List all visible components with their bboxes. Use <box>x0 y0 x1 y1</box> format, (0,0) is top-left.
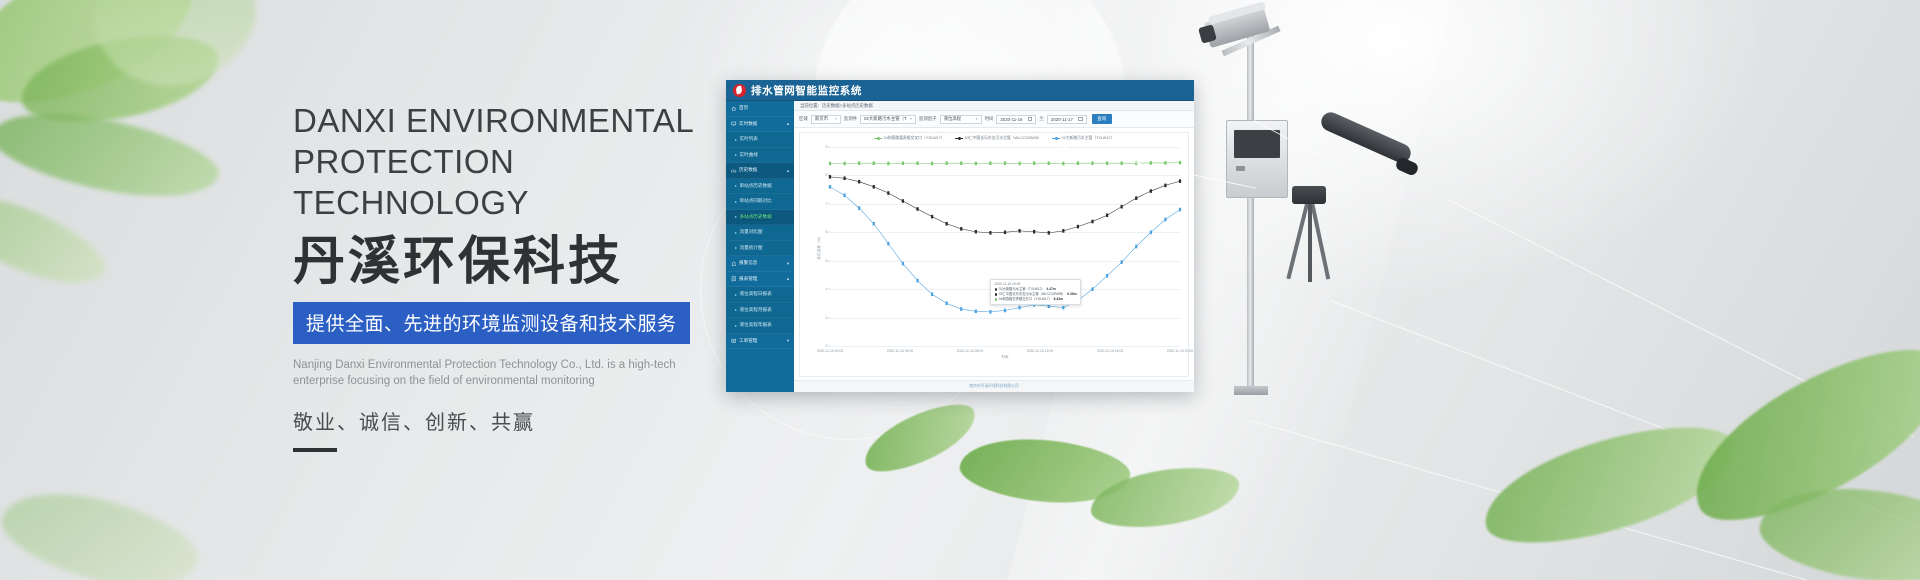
chevron-down-icon: ▾ <box>910 117 912 121</box>
series-0-point-2[interactable] <box>858 161 860 165</box>
series-1-point-1[interactable] <box>843 176 845 180</box>
series-1-point-23[interactable] <box>1164 184 1166 188</box>
series-2-point-24[interactable] <box>1179 208 1181 212</box>
series-1-point-4[interactable] <box>887 191 889 195</box>
chart-card: 04和燕路富贵顺交叉口（YGLW17）03仁中国长乐东支污水主管（WLCC02W… <box>799 132 1189 377</box>
legend-swatch <box>874 138 882 140</box>
sidebar-item-8[interactable]: ▸流量对比图 <box>726 225 794 241</box>
home-icon <box>731 106 737 112</box>
series-2-point-19[interactable] <box>1106 274 1108 278</box>
legend-item-1[interactable]: 03仁中国长乐东支污水主管（WLCC02W98） <box>955 136 1042 141</box>
hero-tagline-badge: 提供全面、先进的环境监测设备和技术服务 <box>293 302 690 344</box>
cabinet-display <box>1234 130 1280 158</box>
series-1-point-0[interactable] <box>829 175 831 179</box>
series-0-point-4[interactable] <box>887 162 889 166</box>
tooltip-series-name: 04和燕路富贵顺交叉口（YGLW17） <box>999 297 1052 302</box>
hero-english-title: DANXI ENVIRONMENTAL PROTECTION TECHNOLOG… <box>293 100 733 223</box>
series-2-point-18[interactable] <box>1091 287 1093 291</box>
sidebar-item-label: 实时曲线 <box>740 152 758 158</box>
chart-container: 04和燕路富贵顺交叉口（YGLW17）03仁中国长乐东支污水主管（WLCC02W… <box>794 128 1194 380</box>
date-separator: 至 <box>1039 116 1043 122</box>
series-1-point-20[interactable] <box>1121 205 1123 209</box>
station-value: 02大新路污水主管（TX） <box>864 116 907 122</box>
series-1-point-13[interactable] <box>1018 229 1020 233</box>
sensor-tripod <box>1308 200 1312 282</box>
series-2-point-1[interactable] <box>843 194 845 198</box>
query-button[interactable]: 查询 <box>1092 114 1112 124</box>
series-0-point-1[interactable] <box>843 162 845 166</box>
monitor-icon <box>731 121 737 127</box>
main-content: 当前位置：历史数据>多站点历史数据 区域 南京市 ▾ 监测件 02大新路污水主管… <box>794 101 1194 392</box>
series-2-point-22[interactable] <box>1150 231 1152 235</box>
series-1-point-2[interactable] <box>858 180 860 184</box>
calendar-icon <box>1028 117 1033 122</box>
sensor-head <box>1292 186 1326 204</box>
sidebar-item-5[interactable]: ▸单站点历史数据 <box>726 179 794 195</box>
bullet-arrow-icon: ▸ <box>735 230 737 235</box>
sidebar-item-6[interactable]: ▸单站点同期对比 <box>726 194 794 210</box>
chart-plot-area[interactable]: 液位高程（m） 时间 987654322020-11-16 00:002020-… <box>830 147 1180 346</box>
sidebar-item-2[interactable]: ▸实时列表 <box>726 132 794 148</box>
sidebar-group-label: 报表管理 <box>739 276 757 282</box>
bullet-arrow-icon: ▸ <box>735 245 737 250</box>
chevron-down-icon: ▼ <box>786 338 790 343</box>
series-2-point-23[interactable] <box>1164 218 1166 222</box>
series-0-point-13[interactable] <box>1018 162 1020 166</box>
series-1-point-10[interactable] <box>975 230 977 234</box>
app-header: 排水管网智能监控系统 <box>726 80 1194 101</box>
series-0-point-18[interactable] <box>1091 161 1093 165</box>
station-select[interactable]: 02大新路污水主管（TX） ▾ <box>860 115 916 124</box>
bell-icon <box>731 261 737 267</box>
sidebar-item-12[interactable]: ▸液位高程日报表 <box>726 287 794 303</box>
series-0-point-6[interactable] <box>916 161 918 165</box>
bullet-arrow-icon: ▸ <box>735 183 737 188</box>
x-axis-tick: 2020-11-16 16:00 <box>1097 349 1124 353</box>
legend-label: 04和燕路富贵顺交叉口（YGLW17） <box>884 136 945 141</box>
chart-icon <box>731 168 737 174</box>
sidebar-group-15[interactable]: 工单管理▼ <box>726 334 794 350</box>
hero-slogan: 敬业、诚信、创新、共赢 <box>293 406 733 435</box>
chevron-down-icon: ▾ <box>976 117 978 121</box>
sidebar-group-label: 实时数据 <box>739 121 757 127</box>
hero-chinese-title: 丹溪环保科技 <box>293 231 733 293</box>
bullet-arrow-icon: ▸ <box>735 137 737 142</box>
factor-value: 液位高程 <box>944 116 962 122</box>
bullet-arrow-icon: ▸ <box>735 292 737 297</box>
region-value: 南京市 <box>815 116 828 122</box>
camera-pole <box>1247 36 1254 386</box>
sidebar-item-label: 流量对比图 <box>740 229 763 235</box>
time-label: 时间 <box>985 116 994 122</box>
series-2-point-4[interactable] <box>887 242 889 246</box>
cabinet-indicator <box>1236 166 1245 171</box>
x-axis-tick: 2020-11-16 00:00 <box>817 349 844 353</box>
sidebar-item-label: 多站点历史数据 <box>740 214 772 220</box>
monitoring-app-window: 排水管网智能监控系统 首页实时数据▲▸实时列表▸实时曲线历史数据▲▸单站点历史数… <box>726 80 1194 392</box>
sidebar-group-11[interactable]: 报表管理▲ <box>726 272 794 288</box>
series-0-point-16[interactable] <box>1062 162 1064 166</box>
bullet-arrow-icon: ▸ <box>735 323 737 328</box>
sidebar-item-label: 单站点历史数据 <box>740 183 772 189</box>
tooltip-series-dot <box>995 298 997 300</box>
sidebar-group-10[interactable]: 报警信息▼ <box>726 256 794 272</box>
x-axis-tick: 2020-11-16 04:00 <box>887 349 914 353</box>
y-axis-tick: 5 <box>826 259 828 263</box>
series-2-point-11[interactable] <box>989 310 991 314</box>
series-0-point-23[interactable] <box>1164 161 1166 165</box>
series-0-point-0[interactable] <box>829 162 831 166</box>
series-2-point-13[interactable] <box>1018 306 1020 310</box>
monitoring-equipment-group <box>1200 0 1660 500</box>
date-from-value: 2020-11-16 <box>1000 117 1022 122</box>
bullet-arrow-icon: ▸ <box>735 307 737 312</box>
decorative-leaf <box>0 471 207 580</box>
series-2-point-10[interactable] <box>975 310 977 314</box>
tooltip-series-value: 6.38m <box>1067 292 1076 297</box>
y-axis-tick: 8 <box>826 173 828 177</box>
sidebar-item-7[interactable]: ▸多站点历史数据 <box>726 210 794 226</box>
sidebar-group-label: 首页 <box>739 105 748 111</box>
ticket-icon <box>731 338 737 344</box>
hero-text-block: DANXI ENVIRONMENTAL PROTECTION TECHNOLOG… <box>293 100 733 452</box>
region-select[interactable]: 南京市 ▾ <box>811 115 841 124</box>
app-body: 首页实时数据▲▸实时列表▸实时曲线历史数据▲▸单站点历史数据▸单站点同期对比▸多… <box>726 101 1194 392</box>
bullet-arrow-icon: ▸ <box>735 199 737 204</box>
series-2-point-6[interactable] <box>916 279 918 283</box>
series-1-point-21[interactable] <box>1135 196 1137 200</box>
series-0-point-5[interactable] <box>902 161 904 165</box>
series-1-point-9[interactable] <box>960 227 962 231</box>
legend-swatch <box>955 138 963 140</box>
y-axis-tick: 6 <box>826 230 828 234</box>
series-2-point-16[interactable] <box>1062 306 1064 310</box>
x-axis-title: 时间 <box>1002 354 1009 359</box>
sidebar-item-label: 单站点同期对比 <box>740 198 772 204</box>
chart-tooltip: 2020-11-16 20:00 02大新路污水主管（TXLW12）4.47m0… <box>990 279 1081 305</box>
date-from-input[interactable]: 2020-11-16 <box>996 115 1036 124</box>
series-1-point-18[interactable] <box>1091 220 1093 224</box>
tooltip-series-value: 8.43m <box>1054 297 1063 302</box>
chevron-up-icon: ▲ <box>786 168 790 173</box>
hero-description: Nanjing Danxi Environmental Protection T… <box>293 357 678 389</box>
x-axis-tick: 2020-11-16 12:00 <box>1027 349 1054 353</box>
y-axis-tick: 9 <box>826 145 828 149</box>
hero-divider-rule <box>293 448 337 452</box>
bullet-arrow-icon: ▸ <box>735 214 737 219</box>
series-2-point-2[interactable] <box>858 206 860 210</box>
series-1-point-6[interactable] <box>916 207 918 211</box>
y-axis-title: 液位高程（m） <box>816 234 821 259</box>
series-1-point-7[interactable] <box>931 215 933 219</box>
sidebar-item-label: 液位高程日报表 <box>740 291 772 297</box>
sensor-tripod <box>1310 200 1331 279</box>
filter-toolbar: 区域 南京市 ▾ 监测件 02大新路污水主管（TX） ▾ 监测因子 液位高程 ▾… <box>794 111 1194 128</box>
factor-select[interactable]: 液位高程 ▾ <box>940 115 982 124</box>
app-footer: 南京市丹溪环保科技有限公司 <box>794 380 1194 392</box>
series-0-point-20[interactable] <box>1121 161 1123 165</box>
series-1-point-8[interactable] <box>946 222 948 226</box>
series-0-point-12[interactable] <box>1004 161 1006 165</box>
region-label: 区域 <box>799 116 808 122</box>
series-1-point-12[interactable] <box>1004 231 1006 235</box>
sidebar-group-0[interactable]: 首页 <box>726 101 794 117</box>
report-icon <box>731 276 737 282</box>
calendar-icon <box>1078 117 1083 122</box>
series-line-1 <box>830 177 1180 233</box>
series-2-point-3[interactable] <box>873 222 875 226</box>
date-to-input[interactable]: 2020-11-17 <box>1047 115 1087 124</box>
station-label: 监测件 <box>844 116 857 122</box>
sidebar-group-label: 报警信息 <box>739 260 757 266</box>
tooltip-rows: 02大新路污水主管（TXLW12）4.47m03仁中国长乐东支污水主管（WLCC… <box>995 287 1077 302</box>
sidebar-group-1[interactable]: 实时数据▲ <box>726 117 794 133</box>
series-2-point-9[interactable] <box>960 307 962 311</box>
series-0-point-17[interactable] <box>1077 161 1079 165</box>
chevron-down-icon: ▼ <box>786 261 790 266</box>
sidebar-group-label: 历史数据 <box>739 167 757 173</box>
gridline <box>830 346 1180 347</box>
series-0-point-24[interactable] <box>1179 161 1181 165</box>
y-axis-tick: 7 <box>826 202 828 206</box>
series-1-point-19[interactable] <box>1106 213 1108 217</box>
breadcrumb: 当前位置：历史数据>多站点历史数据 <box>794 101 1194 111</box>
sidebar[interactable]: 首页实时数据▲▸实时列表▸实时曲线历史数据▲▸单站点历史数据▸单站点同期对比▸多… <box>726 101 794 392</box>
factor-label: 监测因子 <box>919 116 937 122</box>
y-axis-tick: 4 <box>826 287 828 291</box>
series-1-point-22[interactable] <box>1150 189 1152 193</box>
sidebar-item-13[interactable]: ▸液位高程月报表 <box>726 303 794 319</box>
x-axis-tick: 2020-11-16 20:00 <box>1167 349 1194 353</box>
x-axis-tick: 2020-11-16 08:00 <box>957 349 984 353</box>
series-1-point-11[interactable] <box>989 231 991 235</box>
shield-logo-icon <box>733 84 746 97</box>
series-0-point-10[interactable] <box>975 162 977 166</box>
series-1-point-15[interactable] <box>1048 231 1050 235</box>
legend-label: 02大新路污水主管（TXLW12） <box>1062 136 1115 141</box>
y-axis-tick: 3 <box>826 316 828 320</box>
sidebar-item-14[interactable]: ▸液位高程年报表 <box>726 318 794 334</box>
series-0-point-3[interactable] <box>873 161 875 165</box>
sidebar-item-label: 流量统计图 <box>740 245 763 251</box>
sidebar-item-9[interactable]: ▸流量统计图 <box>726 241 794 257</box>
series-2-point-21[interactable] <box>1135 245 1137 249</box>
pole-base <box>1234 386 1268 395</box>
decorative-leaf <box>0 176 115 304</box>
sidebar-item-label: 实时列表 <box>740 136 758 142</box>
sidebar-item-label: 液位高程月报表 <box>740 307 772 313</box>
water-probe-tip <box>1394 156 1419 177</box>
legend-swatch <box>1052 138 1060 140</box>
y-axis-tick: 2 <box>826 344 828 348</box>
series-0-point-8[interactable] <box>946 161 948 165</box>
series-2-point-5[interactable] <box>902 262 904 266</box>
tooltip-row-2: 04和燕路富贵顺交叉口（YGLW17）8.43m <box>995 297 1077 302</box>
chevron-up-icon: ▲ <box>786 276 790 281</box>
sidebar-item-label: 液位高程年报表 <box>740 322 772 328</box>
app-title: 排水管网智能监控系统 <box>751 83 862 98</box>
bullet-arrow-icon: ▸ <box>735 152 737 157</box>
tooltip-series-dot <box>995 288 997 290</box>
series-2-point-20[interactable] <box>1121 260 1123 264</box>
series-1-point-3[interactable] <box>873 185 875 189</box>
sidebar-group-4[interactable]: 历史数据▲ <box>726 163 794 179</box>
chart-legend[interactable]: 04和燕路富贵顺交叉口（YGLW17）03仁中国长乐东支污水主管（WLCC02W… <box>800 136 1188 141</box>
chevron-up-icon: ▲ <box>786 121 790 126</box>
chevron-down-icon: ▾ <box>835 117 837 121</box>
sidebar-item-3[interactable]: ▸实时曲线 <box>726 148 794 164</box>
sensor-tripod <box>1286 201 1309 280</box>
legend-label: 03仁中国长乐东支污水主管（WLCC02W98） <box>965 136 1042 141</box>
series-1-point-14[interactable] <box>1033 230 1035 234</box>
series-0-point-9[interactable] <box>960 161 962 165</box>
series-0-point-7[interactable] <box>931 162 933 166</box>
series-2-point-7[interactable] <box>931 292 933 296</box>
series-0-point-14[interactable] <box>1033 161 1035 165</box>
legend-item-0[interactable]: 04和燕路富贵顺交叉口（YGLW17） <box>874 136 945 141</box>
series-1-point-17[interactable] <box>1077 225 1079 229</box>
series-1-point-24[interactable] <box>1179 179 1181 183</box>
series-2-point-8[interactable] <box>946 302 948 306</box>
series-0-point-19[interactable] <box>1106 161 1108 165</box>
series-1-point-16[interactable] <box>1062 229 1064 233</box>
tooltip-series-dot <box>995 293 997 295</box>
series-2-point-12[interactable] <box>1004 309 1006 313</box>
sidebar-group-label: 工单管理 <box>739 338 757 344</box>
legend-item-2[interactable]: 02大新路污水主管（TXLW12） <box>1052 136 1115 141</box>
series-2-point-0[interactable] <box>829 185 831 189</box>
date-to-value: 2020-11-17 <box>1051 117 1073 122</box>
series-1-point-5[interactable] <box>902 199 904 203</box>
series-0-point-15[interactable] <box>1048 161 1050 165</box>
series-0-point-11[interactable] <box>989 161 991 165</box>
